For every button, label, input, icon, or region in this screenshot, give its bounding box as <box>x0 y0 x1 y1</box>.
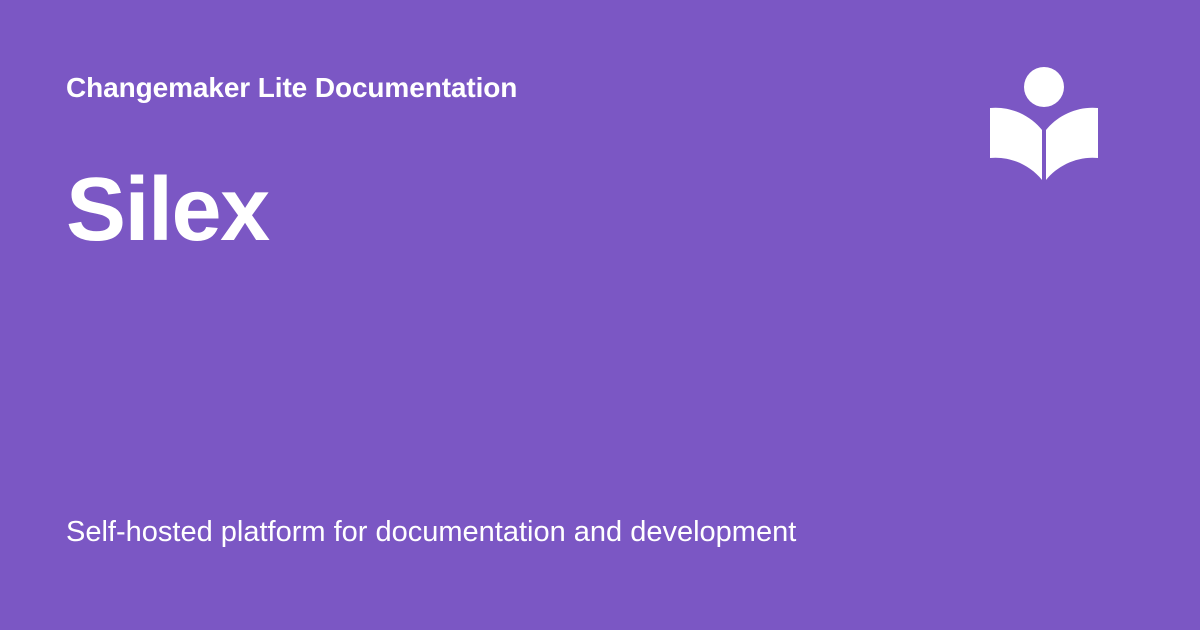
logo <box>986 60 1102 186</box>
page-title: Silex <box>66 160 269 260</box>
open-book-reader-icon <box>986 60 1102 186</box>
site-name: Changemaker Lite Documentation <box>66 70 517 106</box>
tagline: Self-hosted platform for documentation a… <box>66 513 796 551</box>
og-card: Changemaker Lite Documentation Silex Sel… <box>0 0 1200 630</box>
